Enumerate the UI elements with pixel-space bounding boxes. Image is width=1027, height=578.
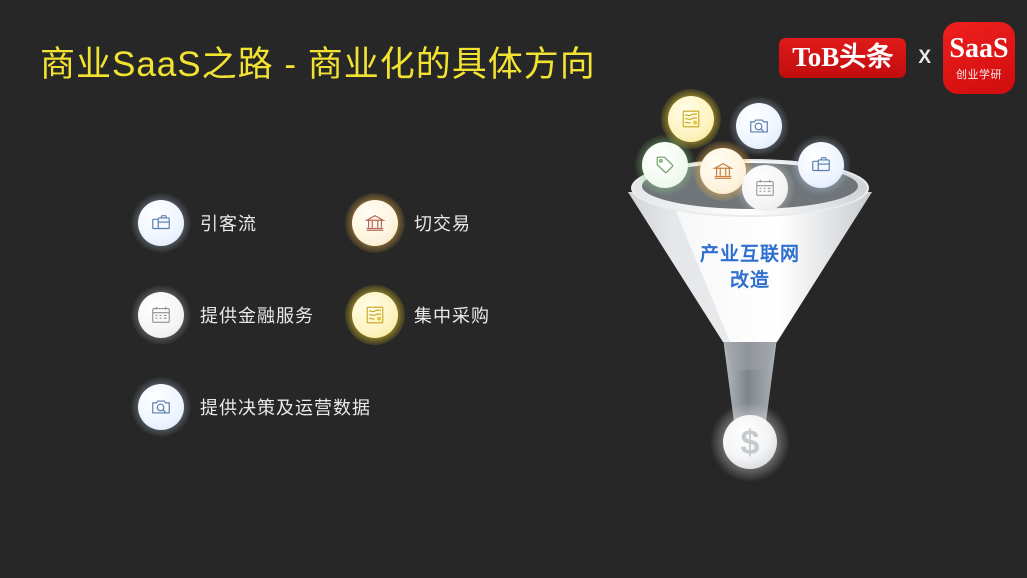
- calendar-icon: [138, 292, 184, 338]
- camera-search-icon: [138, 384, 184, 430]
- bullet-label: 集中采购: [414, 302, 490, 328]
- briefcase-icon: [798, 142, 844, 188]
- bullet-item-decision-data[interactable]: 提供决策及运营数据: [138, 384, 371, 430]
- tag-icon: [642, 142, 688, 188]
- calendar-icon: [742, 165, 788, 211]
- funnel-input-document-map[interactable]: [668, 96, 714, 142]
- funnel-input-calendar[interactable]: [742, 165, 788, 211]
- bullet-label: 提供决策及运营数据: [200, 394, 371, 420]
- bullet-item-financial-services[interactable]: 提供金融服务: [138, 292, 314, 338]
- document-map-icon: [352, 292, 398, 338]
- bullet-row: 提供金融服务 集中采购: [138, 292, 558, 384]
- funnel-input-camera-search[interactable]: [736, 103, 782, 149]
- logo-saas-subtitle: 创业学研: [956, 66, 1002, 82]
- logo-saas-title: SaaS: [949, 35, 1008, 63]
- bullet-label: 引客流: [200, 210, 257, 236]
- bullet-item-centralized-procurement[interactable]: 集中采购: [352, 292, 490, 338]
- bullet-item-lead-traffic[interactable]: 引客流: [138, 200, 257, 246]
- funnel-input-tag[interactable]: [642, 142, 688, 188]
- bullet-label: 切交易: [414, 210, 471, 236]
- funnel-graphic: $ 产业互联网 改造: [590, 70, 910, 490]
- document-map-icon: [668, 96, 714, 142]
- bullet-label: 提供金融服务: [200, 302, 314, 328]
- bullet-list: 引客流 切交易: [138, 200, 558, 476]
- bullet-row: 引客流 切交易: [138, 200, 558, 292]
- bullet-row: 提供决策及运营数据: [138, 384, 558, 476]
- funnel-input-briefcase[interactable]: [798, 142, 844, 188]
- camera-search-icon: [736, 103, 782, 149]
- logo-separator: X: [916, 47, 933, 69]
- briefcase-icon: [138, 200, 184, 246]
- page-title: 商业SaaS之路 - 商业化的具体方向: [40, 36, 596, 87]
- slide-canvas: 商业SaaS之路 - 商业化的具体方向 ToB头条 X SaaS 创业学研 引客…: [0, 0, 1027, 578]
- bullet-item-transaction[interactable]: 切交易: [352, 200, 471, 246]
- logo-saas-academy: SaaS 创业学研: [943, 22, 1015, 94]
- dollar-coin-icon: $: [741, 424, 760, 462]
- bank-icon: [352, 200, 398, 246]
